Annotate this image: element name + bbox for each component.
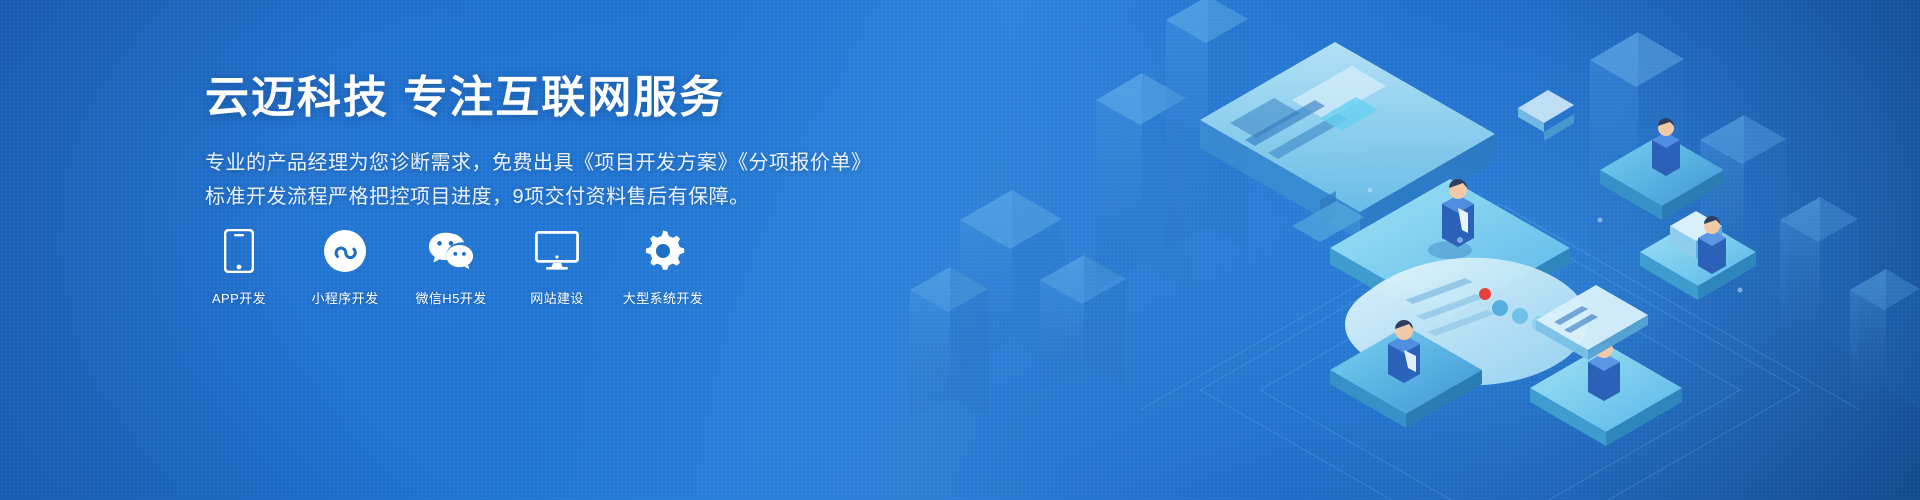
- hero-banner: 云迈科技 专注互联网服务 专业的产品经理为您诊断需求，免费出具《项目开发方案》《…: [0, 0, 1920, 500]
- subtitle-line-1: 专业的产品经理为您诊断需求，免费出具《项目开发方案》《分项报价单》: [205, 146, 965, 180]
- service-list: APP开发 小程序开发: [205, 228, 697, 307]
- service-item-wechat-h5[interactable]: 微信H5开发: [417, 228, 485, 307]
- service-label: 微信H5开发: [415, 288, 486, 307]
- page-title: 云迈科技 专注互联网服务: [205, 72, 965, 124]
- subtitle-line-2: 标准开发流程严格把控项目进度，9项交付资料售后有保障。: [205, 180, 965, 214]
- service-label: 小程序开发: [311, 288, 378, 307]
- hero-subtitle: 专业的产品经理为您诊断需求，免费出具《项目开发方案》《分项报价单》 标准开发流程…: [205, 146, 965, 215]
- monitor-icon: [534, 228, 580, 274]
- service-label: 网站建设: [530, 288, 584, 307]
- service-item-large-system[interactable]: 大型系统开发: [629, 228, 697, 307]
- mobile-phone-icon: [216, 228, 262, 274]
- gear-icon: [640, 228, 686, 274]
- service-item-mini-program[interactable]: 小程序开发: [311, 228, 379, 307]
- mini-program-icon: [322, 228, 368, 274]
- service-item-app[interactable]: APP开发: [205, 228, 273, 307]
- isometric-data-dashboard-illustration: [900, 0, 1920, 500]
- wechat-icon: [428, 228, 474, 274]
- hero-text-block: 云迈科技 专注互联网服务 专业的产品经理为您诊断需求，免费出具《项目开发方案》《…: [205, 72, 965, 215]
- service-label: 大型系统开发: [623, 288, 703, 307]
- service-item-website[interactable]: 网站建设: [523, 228, 591, 307]
- service-label: APP开发: [212, 288, 266, 307]
